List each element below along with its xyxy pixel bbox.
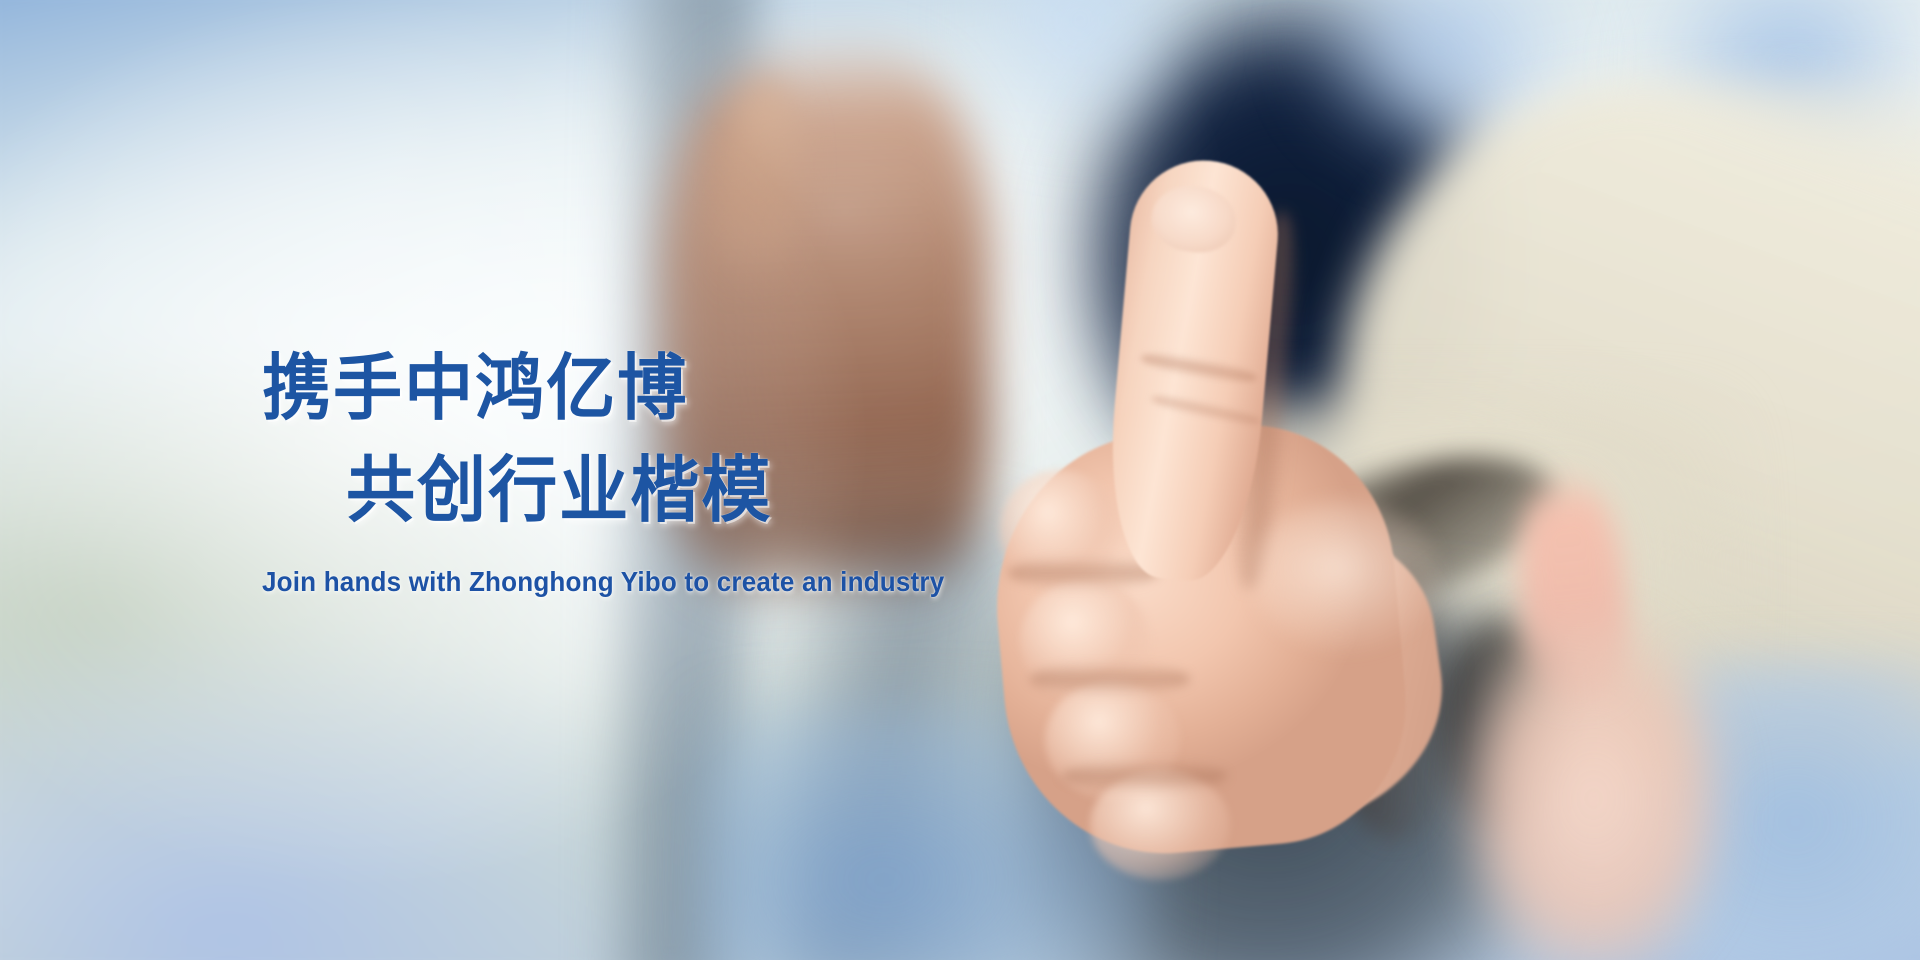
wrist-highlight <box>1250 500 1440 650</box>
knuckle-crease-2 <box>1030 662 1190 696</box>
headline-line-2: 共创行业楷模 <box>346 454 1070 526</box>
banner-copy: 携手中鸿亿博 共创行业楷模 Join hands with Zhonghong … <box>0 0 1100 598</box>
hero-banner: 携手中鸿亿博 共创行业楷模 Join hands with Zhonghong … <box>0 0 1920 960</box>
headline-line-1: 携手中鸿亿博 <box>262 352 1066 424</box>
banner-subheadline: Join hands with Zhonghong Yibo to create… <box>262 566 1041 598</box>
knuckle-crease-3 <box>1062 760 1227 792</box>
